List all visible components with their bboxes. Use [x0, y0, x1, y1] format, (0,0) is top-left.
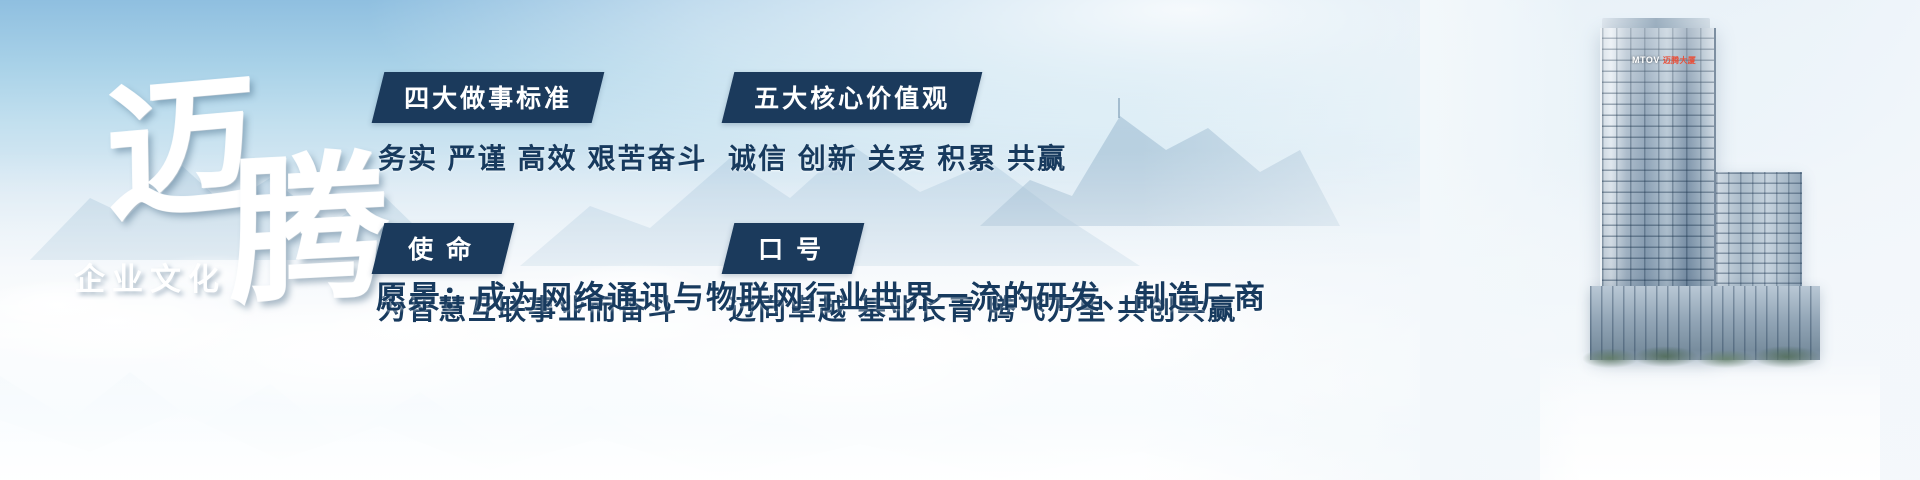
headquarters-building-photo: MTOV 迈腾大厦 — [1420, 0, 1920, 480]
tag-mission: 使 命 — [372, 223, 515, 274]
tag-five-core-values: 五大核心价值观 — [722, 72, 983, 123]
vision-statement: 愿景：成为网络通讯与物联网行业世界一流的研发、制造厂商 — [376, 272, 1267, 317]
tower-signage: MTOV 迈腾大厦 — [1632, 52, 1708, 68]
tag-four-standards: 四大做事标准 — [372, 72, 605, 123]
items-five-core-values: 诚信 创新 关爱 积累 共赢 — [728, 137, 1237, 177]
tower-sign-chinese: 迈腾大厦 — [1663, 55, 1696, 66]
tag-slogan: 口 号 — [722, 223, 865, 274]
brand-title-group: 迈 腾 企业文化 — [30, 42, 380, 312]
tower-sign-mark: MTOV — [1632, 55, 1660, 65]
tag-five-core-values-label: 五大核心价值观 — [754, 79, 950, 115]
corporate-culture-banner: 迈 腾 企业文化 四大做事标准 务实 严谨 高效 艰苦奋斗 使 命 为智慧互联事… — [0, 0, 1920, 480]
tag-slogan-label: 口 号 — [758, 230, 824, 266]
brand-character-2: 腾 — [230, 150, 388, 316]
items-four-standards: 务实 严谨 高效 艰苦奋斗 — [378, 137, 707, 177]
tag-four-standards-label: 四大做事标准 — [404, 79, 572, 115]
brand-subtitle: 企业文化 — [74, 254, 226, 299]
tag-mission-label: 使 命 — [408, 230, 474, 266]
photo-left-fade — [1420, 0, 1580, 480]
ground-fade — [1540, 350, 1880, 480]
